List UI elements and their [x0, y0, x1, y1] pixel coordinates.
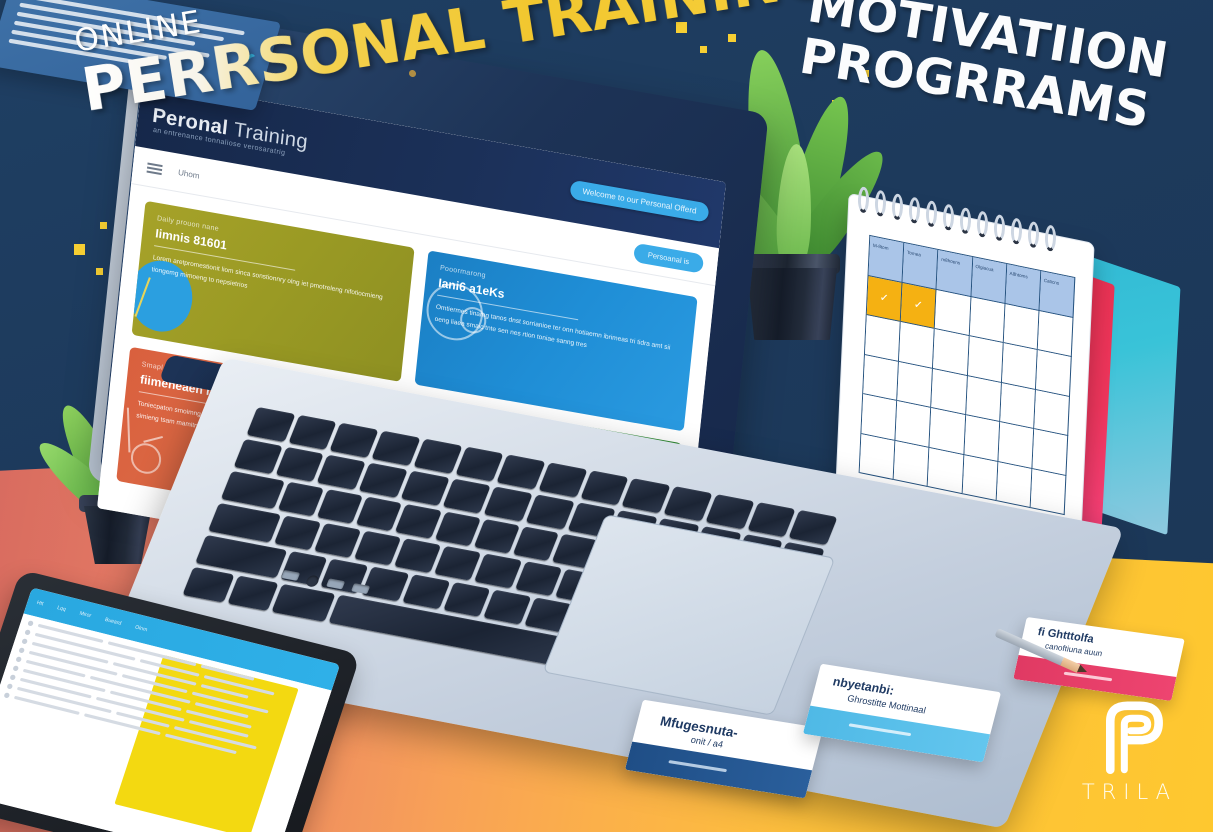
person-laptop-icon — [129, 441, 162, 476]
tablet-nav-item[interactable]: Lqq — [56, 605, 66, 613]
tablet-nav-item[interactable]: Olnm — [134, 624, 148, 633]
subnav-link[interactable]: Uhom — [178, 168, 200, 181]
usb-port-icon — [351, 583, 370, 594]
logo-wordmark: TRILA — [1082, 780, 1177, 804]
audio-port-icon — [305, 575, 320, 588]
tablet-nav-item[interactable]: Htt — [36, 600, 44, 608]
header-cta-button[interactable]: Welcome to our Personal Offerd — [570, 179, 710, 222]
hamburger-icon[interactable] — [147, 162, 163, 175]
brand-logo: TRILA — [1082, 698, 1177, 804]
decor-stroke — [127, 408, 131, 453]
sparkle-icon — [96, 268, 103, 275]
brochure-title: nbyetanbi: — [831, 674, 895, 698]
scene-root: M-8tom Tomea m8hoens Olgiacua A8htoms Ca… — [0, 0, 1213, 832]
decor-stroke — [143, 436, 163, 443]
subnav-button[interactable]: Persoanal is — [633, 243, 704, 274]
tablet-nav-item[interactable]: Bueard — [104, 617, 122, 627]
p-monogram-icon — [1090, 698, 1168, 776]
usb-port-icon — [326, 578, 345, 589]
tablet-screen[interactable]: Htt Lqq Miror Bueard Olnm — [0, 588, 340, 832]
tablet[interactable]: Htt Lqq Miror Bueard Olnm — [0, 612, 322, 832]
tablet-nav-item[interactable]: Miror — [79, 610, 92, 619]
sparkle-icon — [74, 244, 85, 255]
usb-port-icon — [281, 570, 300, 581]
